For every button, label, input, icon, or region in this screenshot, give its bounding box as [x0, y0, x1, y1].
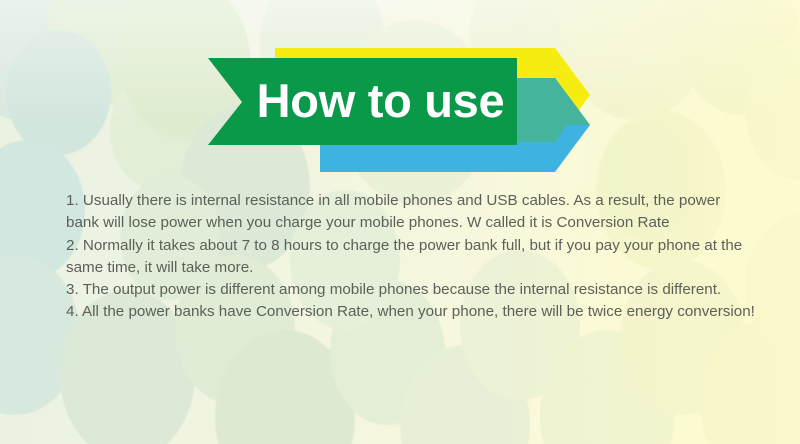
- how-to-use-banner: How to use: [200, 40, 600, 160]
- instruction-paragraph: 2. Normally it takes about 7 to 8 hours …: [66, 235, 756, 280]
- banner-title: How to use: [243, 54, 518, 146]
- bokeh-ellipse: [48, 0, 178, 105]
- instruction-paragraph: 3. The output power is different among m…: [66, 279, 756, 301]
- instruction-paragraph: 1. Usually there is internal resistance …: [66, 190, 756, 235]
- bokeh-ellipse: [0, 0, 80, 120]
- bokeh-ellipse: [215, 330, 355, 444]
- bokeh-ellipse: [540, 330, 675, 444]
- bokeh-ellipse: [6, 30, 111, 155]
- instruction-paragraph: 4. All the power banks have Conversion R…: [66, 301, 756, 323]
- bokeh-ellipse: [110, 70, 210, 190]
- slide-canvas: How to use 1. Usually there is internal …: [0, 0, 800, 444]
- bokeh-ellipse: [680, 0, 800, 115]
- bokeh-ellipse: [400, 345, 530, 444]
- instructions-body: 1. Usually there is internal resistance …: [66, 190, 756, 324]
- bokeh-ellipse: [700, 320, 800, 444]
- bokeh-ellipse: [745, 40, 800, 180]
